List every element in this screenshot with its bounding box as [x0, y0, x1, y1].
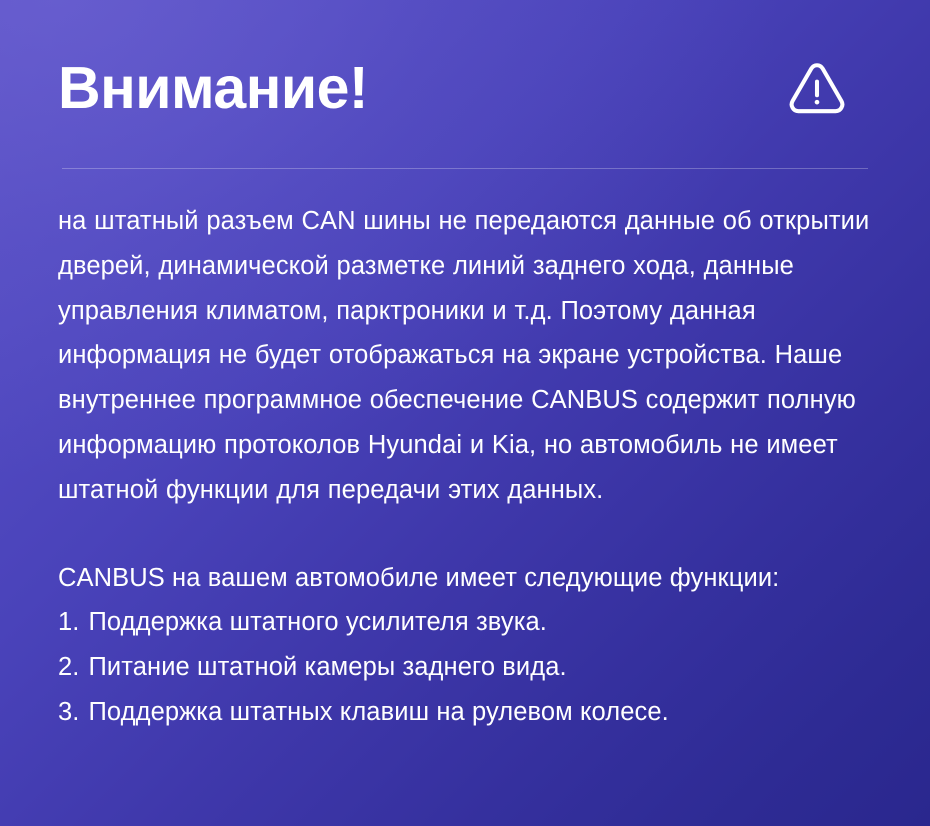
list-item: 1. Поддержка штатного усилителя звука. — [58, 600, 872, 645]
list-item-number: 2. — [58, 645, 79, 690]
list-item: 3. Поддержка штатных клавиш на рулевом к… — [58, 690, 872, 735]
warning-triangle-icon — [786, 57, 848, 119]
notice-body: на штатный разъем CAN шины не передаются… — [58, 169, 872, 735]
warning-notice-card: Внимание! на штатный разъем CAN шины не … — [0, 0, 930, 826]
list-item-label: Поддержка штатных клавиш на рулевом коле… — [88, 690, 872, 735]
list-item: 2. Питание штатной камеры заднего вида. — [58, 645, 872, 690]
feature-list-intro: CANBUS на вашем автомобиле имеет следующ… — [58, 556, 872, 601]
list-item-number: 1. — [58, 600, 79, 645]
list-item-number: 3. — [58, 690, 79, 735]
page-title: Внимание! — [58, 59, 368, 118]
feature-list: 1. Поддержка штатного усилителя звука. 2… — [58, 600, 872, 734]
list-item-label: Поддержка штатного усилителя звука. — [88, 600, 872, 645]
notice-paragraph: на штатный разъем CAN шины не передаются… — [58, 199, 872, 513]
notice-content-wrapper: Внимание! на штатный разъем CAN шины не … — [0, 0, 930, 735]
list-item-label: Питание штатной камеры заднего вида. — [88, 645, 872, 690]
notice-header: Внимание! — [58, 0, 872, 168]
